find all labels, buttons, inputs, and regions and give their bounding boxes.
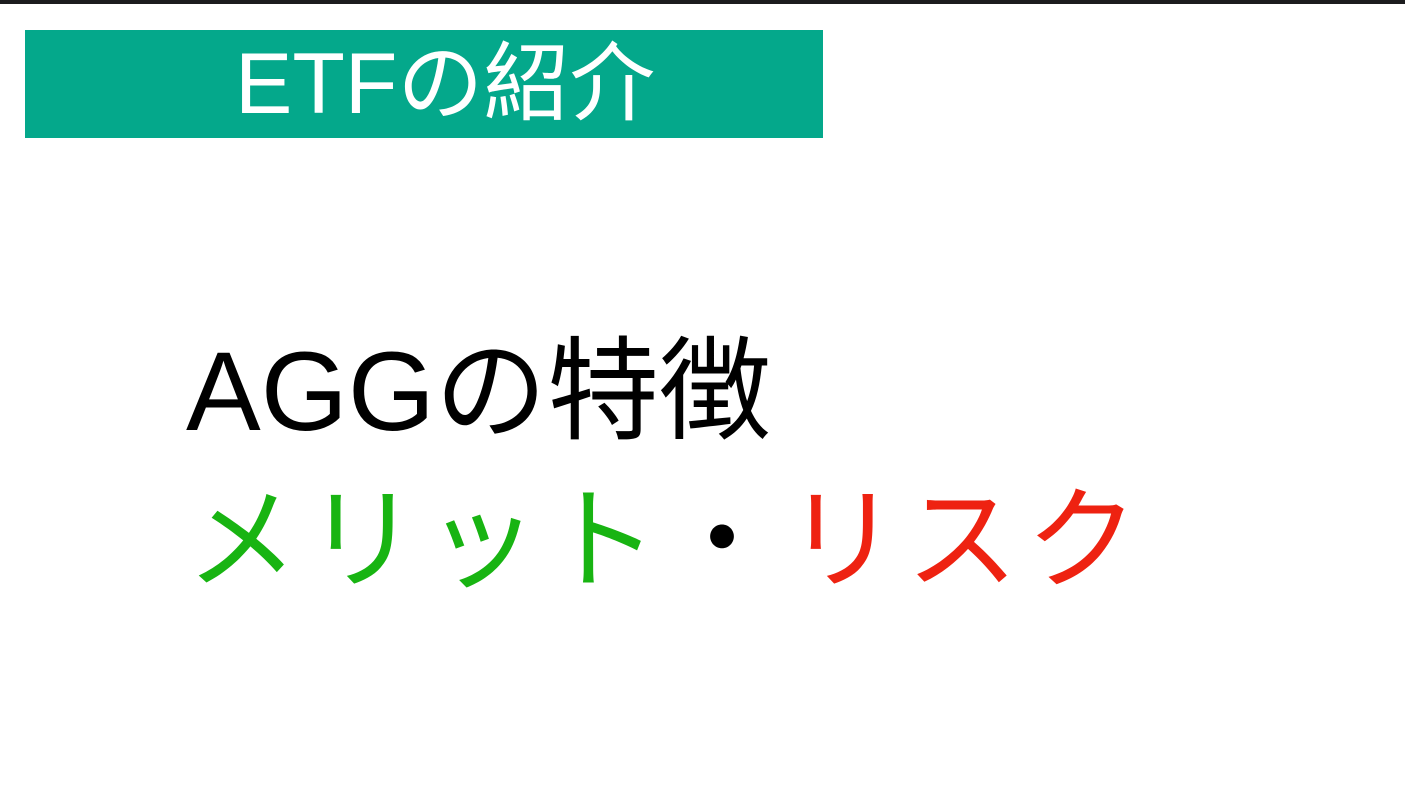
slide-body: AGGの特徴 メリット・リスク bbox=[186, 320, 1286, 613]
slide-headline: AGGの特徴 bbox=[186, 320, 1286, 463]
section-title-banner: ETFの紹介 bbox=[25, 30, 823, 138]
slide-subline: メリット・リスク bbox=[186, 469, 1286, 612]
subline-separator: ・ bbox=[666, 478, 786, 603]
top-strip bbox=[0, 0, 1405, 4]
section-title-text: ETFの紹介 bbox=[235, 41, 655, 127]
subline-risk-text: リスク bbox=[786, 478, 1146, 603]
subline-merit-text: メリット bbox=[186, 478, 666, 603]
presentation-slide: ETFの紹介 AGGの特徴 メリット・リスク bbox=[0, 0, 1405, 792]
